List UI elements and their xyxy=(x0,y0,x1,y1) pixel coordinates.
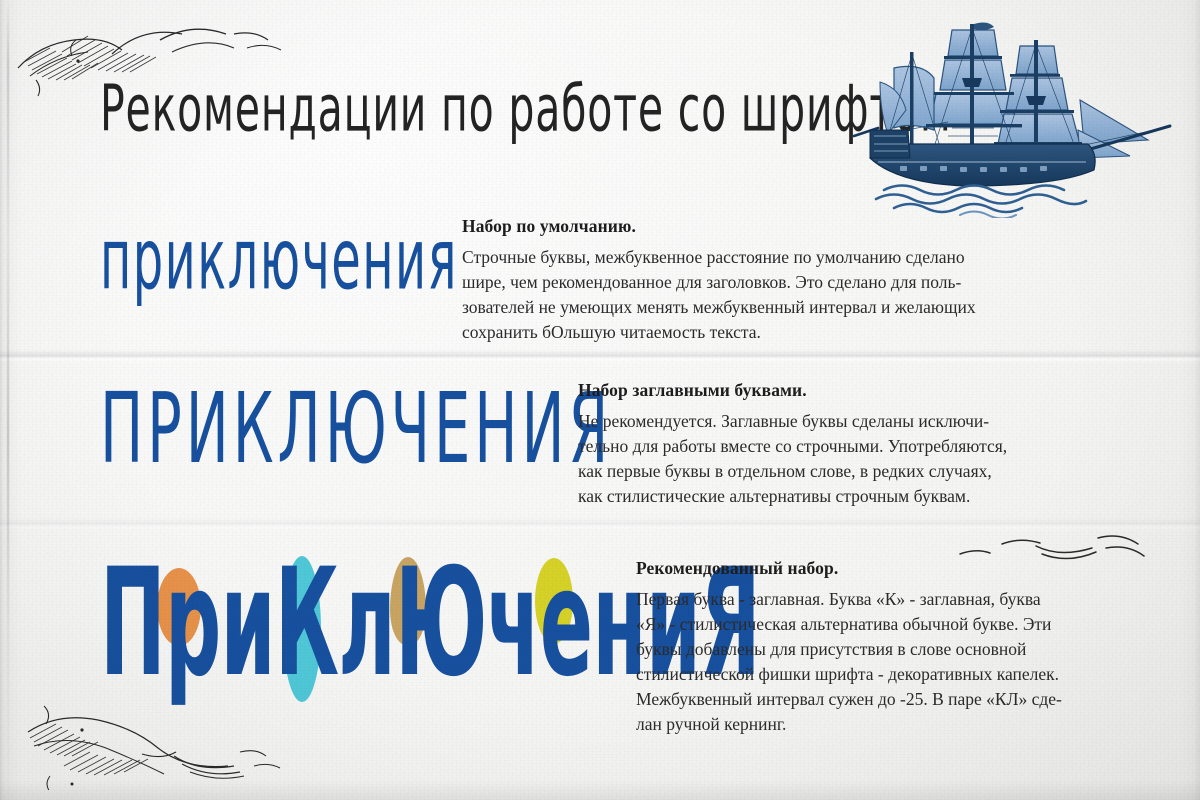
sailing-ship-illustration xyxy=(848,18,1188,218)
paper-seam-lower xyxy=(0,518,1200,532)
block-body-default: Строчные буквы, межбуквенное расстояние … xyxy=(462,245,1022,345)
text-block-default: Набор по умолчанию. Строчные буквы, межб… xyxy=(462,216,1022,345)
sample-word-default: приключения xyxy=(100,218,458,302)
block-heading-recommended: Рекомендованный набор. xyxy=(636,558,1176,579)
sample-word-allcaps: ПРИКЛЮЧЕНИЯ xyxy=(100,382,612,479)
page-title: Рекомендации по работе со шрифтом xyxy=(100,78,952,142)
paper-seam-upper xyxy=(0,350,1200,364)
text-block-allcaps: Набор заглавными буквами. Не рекомендует… xyxy=(578,380,1138,509)
torn-edge-left xyxy=(0,0,26,800)
block-heading-allcaps: Набор заглавными буквами. xyxy=(578,380,1138,401)
block-body-recommended: Первая буква - заглавная. Буква «К» - за… xyxy=(636,587,1176,737)
poster-page: Рекомендации по работе со шрифтом xyxy=(0,0,1200,800)
text-block-recommended: Рекомендованный набор. Первая буква - за… xyxy=(636,558,1176,737)
block-heading-default: Набор по умолчанию. xyxy=(462,216,1022,237)
block-body-allcaps: Не рекомендуется. Заглавные буквы сделан… xyxy=(578,409,1138,509)
torn-edge-bottom xyxy=(0,780,1200,800)
